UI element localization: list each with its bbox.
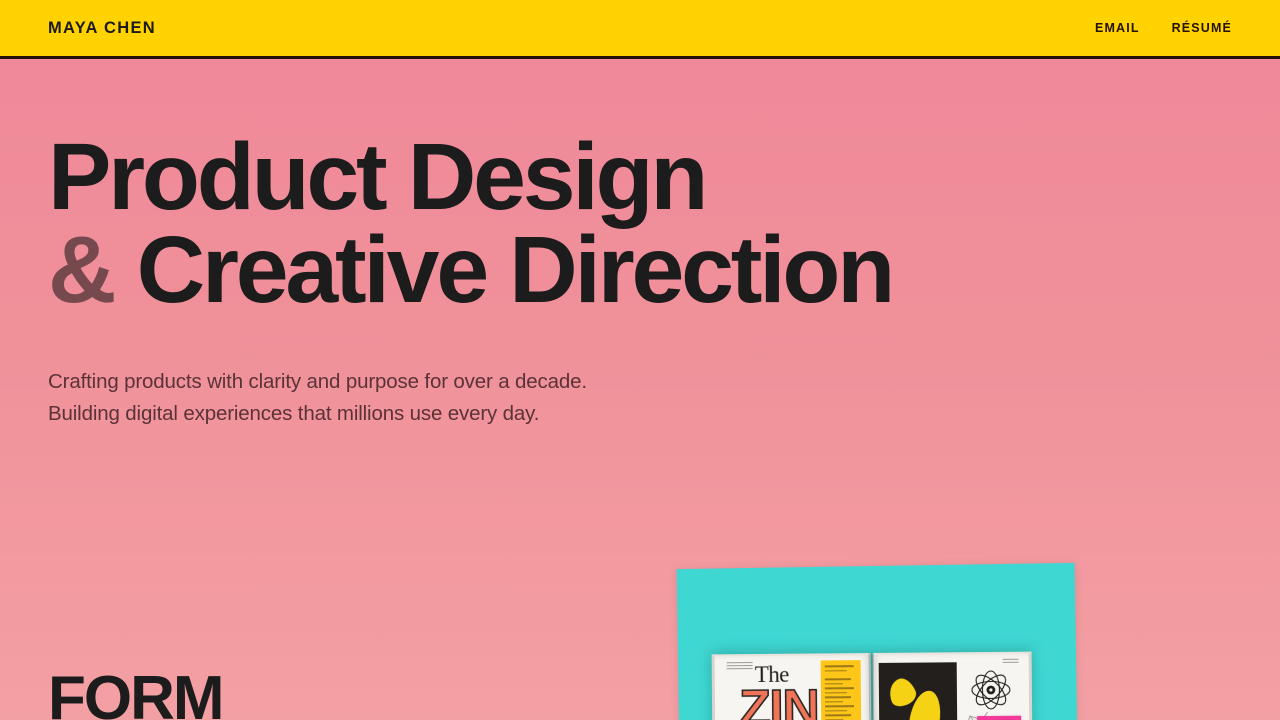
hero-title-line-1: Product Design xyxy=(48,131,1232,224)
site-header: MAYA CHEN EMAIL RÉSUMÉ xyxy=(0,0,1280,59)
text-rule xyxy=(825,687,854,689)
hero-subtitle-line-2: Building digital experiences that millio… xyxy=(48,398,1232,430)
nav-link-email[interactable]: EMAIL xyxy=(1095,21,1140,35)
open-magazine: The ZIN xyxy=(712,652,1033,720)
page-root: MAYA CHEN EMAIL RÉSUMÉ Product Design & … xyxy=(0,0,1280,720)
magazine-sticky-note xyxy=(977,716,1021,720)
hero-subtitle-line-1: Crafting products with clarity and purpo… xyxy=(48,366,1232,398)
nav-link-resume[interactable]: RÉSUMÉ xyxy=(1172,21,1232,35)
magazine-photo[interactable]: The ZIN xyxy=(670,560,1090,720)
hero-title-line-2-text: Creative Direction xyxy=(137,217,892,323)
hero-subtitle: Crafting products with clarity and purpo… xyxy=(48,366,1232,430)
magazine-micro-text xyxy=(727,662,753,669)
text-rule xyxy=(825,670,847,672)
text-rule xyxy=(825,710,847,712)
magazine-black-panel xyxy=(879,662,958,720)
hero-ampersand: & xyxy=(48,217,113,323)
magazine-left-page: The ZIN xyxy=(712,653,872,720)
magazine-right-page xyxy=(873,652,1033,720)
text-rule xyxy=(825,665,854,667)
page-title: Product Design & Creative Direction xyxy=(48,131,1232,317)
text-rule xyxy=(825,701,843,703)
text-rule xyxy=(825,678,851,680)
primary-navigation: EMAIL RÉSUMÉ xyxy=(1095,21,1232,35)
magazine-spine xyxy=(869,653,875,720)
magazine-yellow-sidebar xyxy=(821,660,862,720)
text-rule xyxy=(825,683,843,685)
magazine-page-label xyxy=(1003,659,1019,664)
text-rule xyxy=(825,692,847,694)
hero-section: Product Design & Creative Direction Craf… xyxy=(0,59,1280,430)
text-rule xyxy=(825,714,851,716)
section-heading-form: FORM xyxy=(48,668,223,720)
text-rule xyxy=(825,696,851,698)
atom-diagram-icon xyxy=(969,668,1013,712)
hero-title-line-2: & Creative Direction xyxy=(48,224,1232,317)
magazine-headline: ZIN xyxy=(739,682,819,720)
brand-wordmark[interactable]: MAYA CHEN xyxy=(48,19,156,38)
text-rule xyxy=(825,705,854,707)
